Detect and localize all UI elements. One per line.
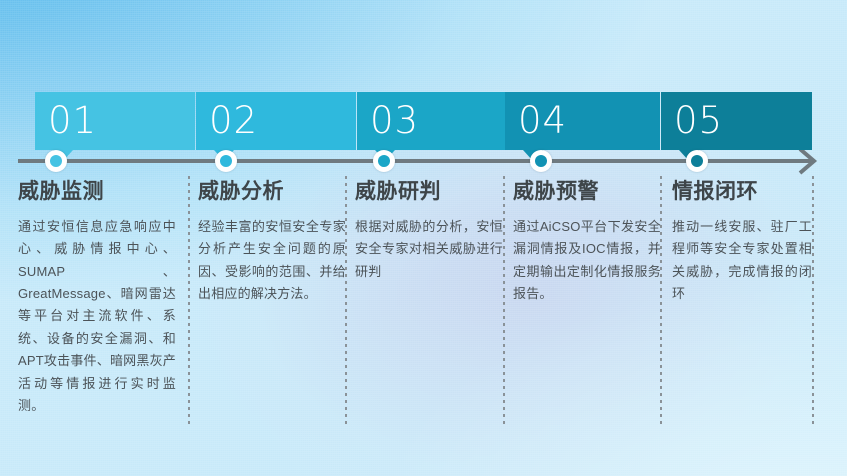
step-column-02: 威胁分析经验丰富的安恒安全专家分析产生安全问题的原因、受影响的范围、并给出相应的… — [198, 181, 346, 305]
timeline-dot-02[interactable] — [215, 150, 237, 172]
column-divider-1 — [188, 176, 190, 426]
timeline-dot-core-02 — [220, 155, 232, 167]
timeline-dot-core-04 — [535, 155, 547, 167]
step-banner-03[interactable]: 03 — [357, 92, 512, 150]
step-number-01: 01 — [48, 102, 97, 139]
step-column-05: 情报闭环推动一线安服、驻厂工程师等安全专家处置相关威胁，完成情报的闭环 — [672, 181, 812, 305]
step-title-03: 威胁研判 — [355, 181, 503, 202]
step-description-05: 推动一线安服、驻厂工程师等安全专家处置相关威胁，完成情报的闭环 — [672, 216, 812, 305]
timeline-dot-core-03 — [378, 155, 390, 167]
step-title-02: 威胁分析 — [198, 181, 346, 202]
step-title-01: 威胁监测 — [18, 181, 176, 202]
step-description-04: 通过AiCSO平台下发安全漏洞情报及IOC情报，并定期输出定制化情报服务报告。 — [513, 216, 661, 305]
step-number-02: 02 — [209, 102, 258, 139]
step-column-04: 威胁预警通过AiCSO平台下发安全漏洞情报及IOC情报，并定期输出定制化情报服务… — [513, 181, 661, 305]
step-banner-01[interactable]: 01 — [35, 92, 195, 150]
infographic-canvas: 01威胁监测通过安恒信息应急响应中心、威胁情报中心、SUMAP、GreatMes… — [0, 0, 847, 476]
timeline-dot-core-05 — [691, 155, 703, 167]
timeline-dot-03[interactable] — [373, 150, 395, 172]
step-title-04: 威胁预警 — [513, 181, 661, 202]
column-divider-5 — [812, 176, 814, 426]
step-column-01: 威胁监测通过安恒信息应急响应中心、威胁情报中心、SUMAP、GreatMessa… — [18, 181, 176, 417]
step-number-04: 04 — [518, 102, 567, 139]
timeline-dot-05[interactable] — [686, 150, 708, 172]
step-banner-02[interactable]: 02 — [196, 92, 356, 150]
step-banner-05[interactable]: 05 — [661, 92, 812, 150]
column-divider-3 — [503, 176, 505, 426]
step-description-02: 经验丰富的安恒安全专家分析产生安全问题的原因、受影响的范围、并给出相应的解决方法… — [198, 216, 346, 305]
step-description-03: 根据对威胁的分析，安恒安全专家对相关威胁进行研判 — [355, 216, 503, 283]
timeline-dot-04[interactable] — [530, 150, 552, 172]
timeline-dot-core-01 — [50, 155, 62, 167]
step-number-03: 03 — [370, 102, 419, 139]
step-description-01: 通过安恒信息应急响应中心、威胁情报中心、SUMAP、GreatMessage、暗… — [18, 216, 176, 417]
step-column-03: 威胁研判根据对威胁的分析，安恒安全专家对相关威胁进行研判 — [355, 181, 503, 283]
step-title-05: 情报闭环 — [672, 181, 812, 202]
step-banner-04[interactable]: 04 — [505, 92, 660, 150]
timeline-dot-01[interactable] — [45, 150, 67, 172]
step-number-05: 05 — [674, 102, 723, 139]
